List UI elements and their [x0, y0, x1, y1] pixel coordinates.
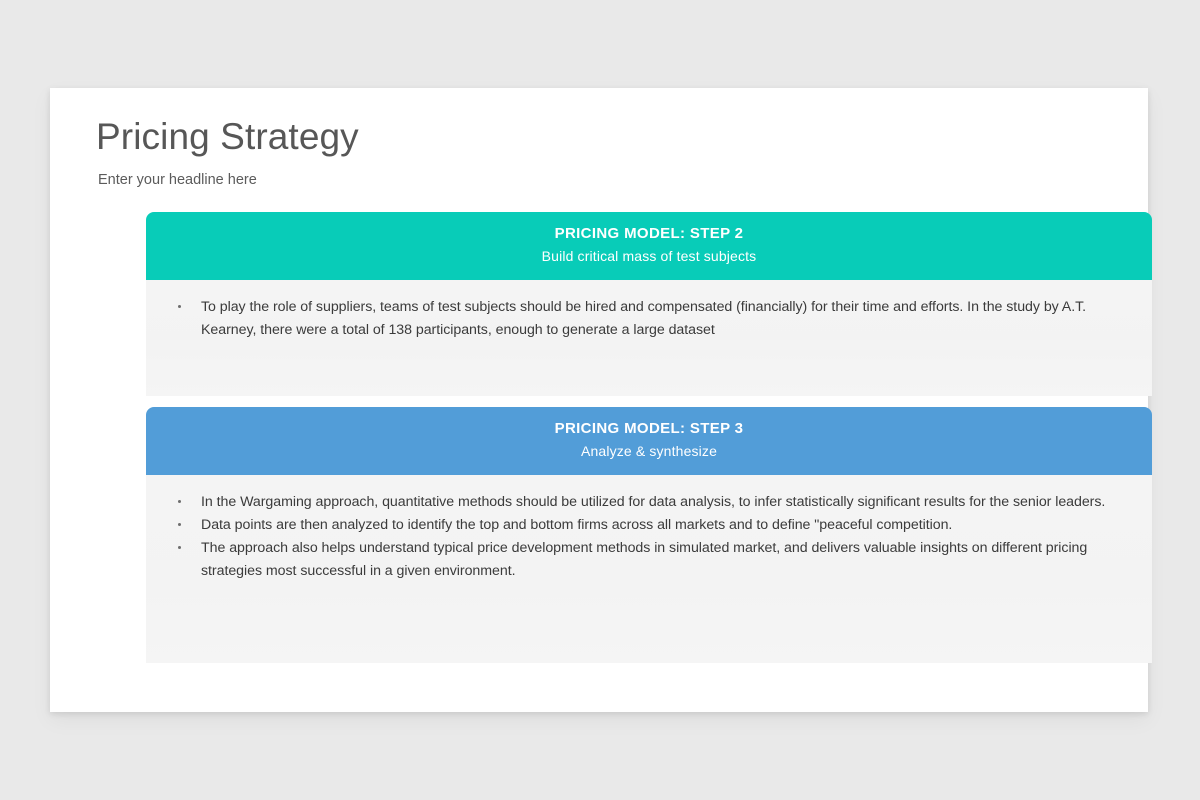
bullet-list: To play the role of suppliers, teams of … [172, 296, 1122, 342]
page-subtitle: Enter your headline here [98, 172, 257, 188]
slide-card: Pricing Strategy Enter your headline her… [50, 88, 1148, 712]
bullet-dot-icon [178, 546, 181, 549]
slide-content-area: Pricing Strategy Enter your headline her… [96, 88, 1148, 712]
bullet-dot-icon [178, 500, 181, 503]
section-header-band-step-3: PRICING MODEL: STEP 3 Analyze & synthesi… [146, 407, 1152, 475]
bullet-list: In the Wargaming approach, quantitative … [172, 491, 1122, 583]
list-item: To play the role of suppliers, teams of … [172, 296, 1122, 342]
page-title: Pricing Strategy [96, 116, 359, 158]
section-pricing-model-step-2: PRICING MODEL: STEP 2 Build critical mas… [146, 212, 1152, 396]
section-pricing-model-step-3: PRICING MODEL: STEP 3 Analyze & synthesi… [146, 407, 1152, 663]
bullet-dot-icon [178, 305, 181, 308]
list-item: Data points are then analyzed to identif… [172, 514, 1122, 537]
section-header-band-step-2: PRICING MODEL: STEP 2 Build critical mas… [146, 212, 1152, 280]
section-body-panel-step-3: In the Wargaming approach, quantitative … [146, 475, 1152, 663]
section-body-panel-step-2: To play the role of suppliers, teams of … [146, 280, 1152, 396]
section-subtitle: Build critical mass of test subjects [166, 246, 1132, 267]
list-item: In the Wargaming approach, quantitative … [172, 491, 1122, 514]
list-item-text: To play the role of suppliers, teams of … [201, 299, 1086, 338]
list-item-text: In the Wargaming approach, quantitative … [201, 494, 1105, 510]
section-subtitle: Analyze & synthesize [166, 441, 1132, 462]
list-item-text: The approach also helps understand typic… [201, 540, 1087, 579]
section-title: PRICING MODEL: STEP 2 [166, 224, 1132, 244]
list-item: The approach also helps understand typic… [172, 537, 1122, 583]
bullet-dot-icon [178, 523, 181, 526]
section-title: PRICING MODEL: STEP 3 [166, 419, 1132, 439]
list-item-text: Data points are then analyzed to identif… [201, 517, 952, 533]
